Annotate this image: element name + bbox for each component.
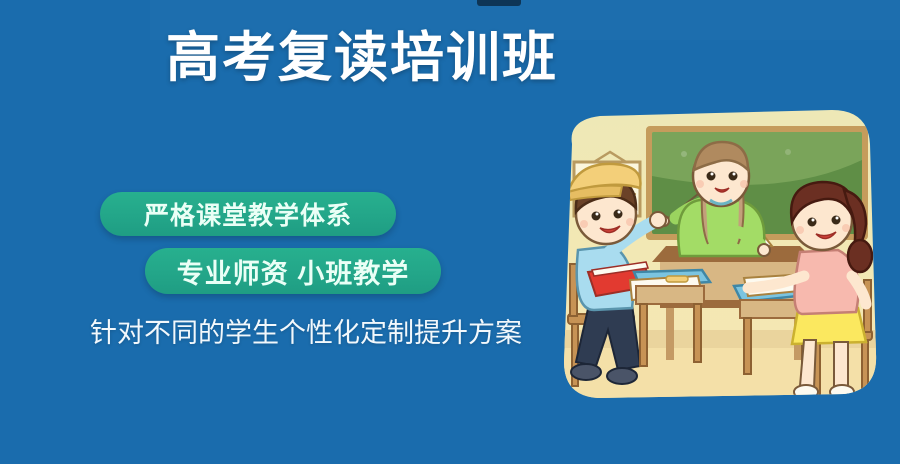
girl-chair-leg-back bbox=[862, 340, 868, 390]
girl-leg-left bbox=[800, 340, 816, 388]
teacher-blush-left bbox=[696, 180, 704, 188]
feature-badge-1: 严格课堂教学体系 bbox=[100, 192, 396, 236]
boy-eye-right bbox=[614, 210, 623, 219]
boy-shoe-left bbox=[571, 364, 601, 380]
boy-desk-leg-left bbox=[640, 304, 647, 366]
boy-eye-glint-right bbox=[618, 211, 621, 214]
page-title: 高考复读培训班 bbox=[152, 28, 572, 88]
top-notch-marker bbox=[477, 0, 521, 6]
scene-body bbox=[548, 104, 890, 404]
boy-desk-pencil bbox=[666, 276, 688, 282]
teacher-eye-left bbox=[707, 172, 716, 181]
girl-eye-left bbox=[808, 218, 817, 227]
feature-badge-2: 专业师资 小班教学 bbox=[145, 248, 441, 294]
boy-desk-leg-right bbox=[694, 304, 701, 362]
boy-eye-left bbox=[592, 212, 601, 221]
teacher-blush-right bbox=[740, 180, 748, 188]
boy-blush-right bbox=[626, 218, 634, 226]
tagline-text: 针对不同的学生个性化定制提升方案 bbox=[90, 316, 510, 350]
girl-eye-right bbox=[832, 216, 841, 225]
classroom-illustration bbox=[548, 104, 890, 404]
teacher-eye-right bbox=[729, 172, 738, 181]
blackboard-chalk-mark-2 bbox=[785, 149, 791, 155]
boy-desk-body bbox=[636, 286, 704, 304]
girl-eye-glint-left bbox=[812, 219, 815, 222]
girl-desk-leg-left bbox=[744, 318, 751, 374]
girl-shoe-left bbox=[794, 385, 818, 399]
teacher-sweater bbox=[678, 200, 764, 256]
boy-shoe-right bbox=[607, 368, 637, 384]
feature-badge-2-label: 专业师资 小班教学 bbox=[177, 252, 410, 291]
girl-ponytail bbox=[848, 240, 872, 272]
boy-eye-glint-left bbox=[596, 213, 599, 216]
boy-blush-left bbox=[580, 220, 588, 228]
teacher-hand-right bbox=[758, 244, 770, 256]
teacher-eye-glint-left bbox=[711, 173, 714, 176]
girl-eye-glint-right bbox=[836, 217, 839, 220]
promo-banner: 高考复读培训班 严格课堂教学体系 专业师资 小班教学 针对不同的学生个性化定制提… bbox=[0, 0, 900, 464]
teacher-eye-glint-right bbox=[733, 173, 736, 176]
feature-badge-1-label: 严格课堂教学体系 bbox=[144, 196, 352, 232]
girl-blush-left bbox=[796, 226, 804, 234]
girl-blush-right bbox=[842, 224, 850, 232]
girl-shoe-right bbox=[830, 385, 854, 399]
girl-leg-right bbox=[834, 342, 848, 386]
teacher-desk-leg-left bbox=[666, 308, 674, 360]
blackboard-chalk-mark bbox=[681, 151, 687, 157]
boy-hand-raised bbox=[650, 212, 666, 228]
